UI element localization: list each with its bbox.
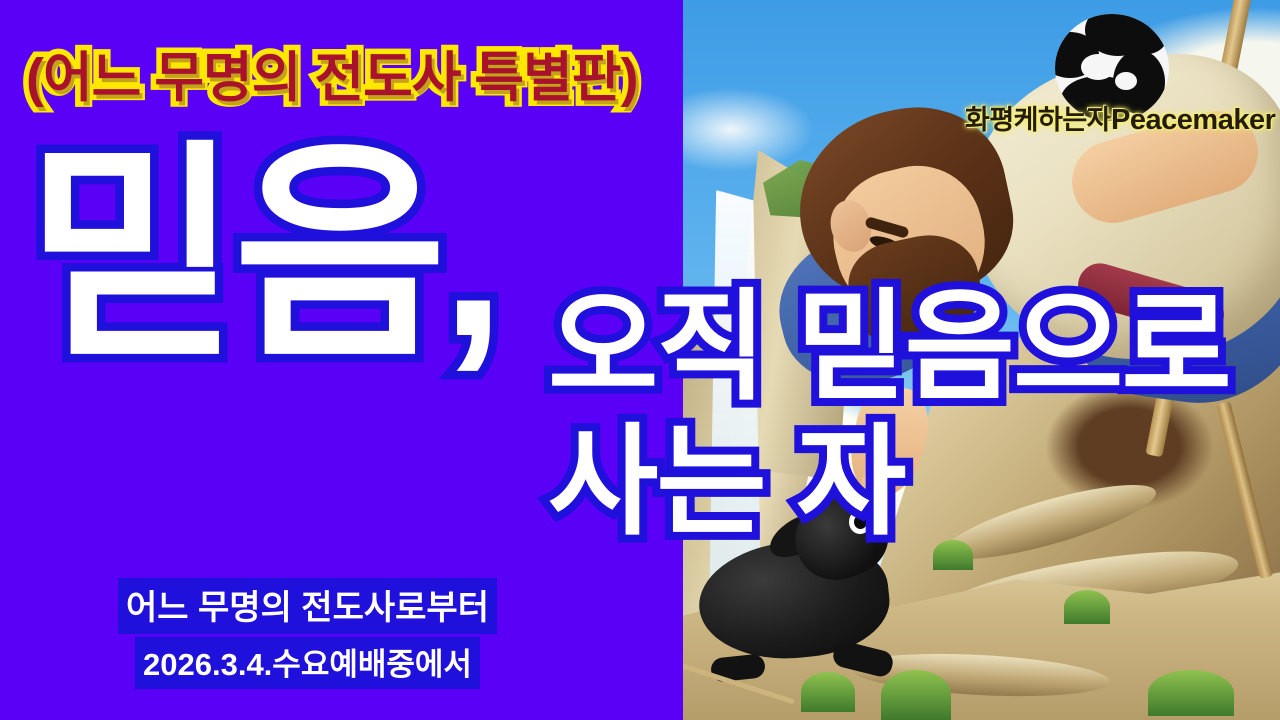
watermark-korean: 화평케하는자 [965,105,1111,135]
edition-banner: (어느 무명의 전도사 특별판) [26,33,637,112]
watermark-text: 화평케하는자Peacemaker [965,98,1275,137]
title-line-3: 사는 자 [548,422,905,542]
thumbnail-canvas: 화평케하는자Peacemaker (어느 무명의 전도사 특별판) 믿음, 오직… [0,0,1280,720]
grass-tuft [1148,670,1234,716]
title-line-1: 믿음, [26,140,499,372]
credit-line-1: 어느 무명의 전도사로부터 [118,578,497,634]
grass-tuft [1064,590,1110,624]
title-line-2: 오직 믿음으로 [548,287,1230,407]
credit-block: 어느 무명의 전도사로부터 2026.3.4.수요예배중에서 [118,578,497,689]
watermark-english: Peacemaker [1111,104,1275,136]
grass-tuft [881,670,951,720]
credit-line-2: 2026.3.4.수요예배중에서 [135,637,480,689]
grass-tuft [801,672,855,712]
channel-watermark: 화평케하는자Peacemaker [1043,14,1280,134]
grass-tuft [933,540,973,570]
